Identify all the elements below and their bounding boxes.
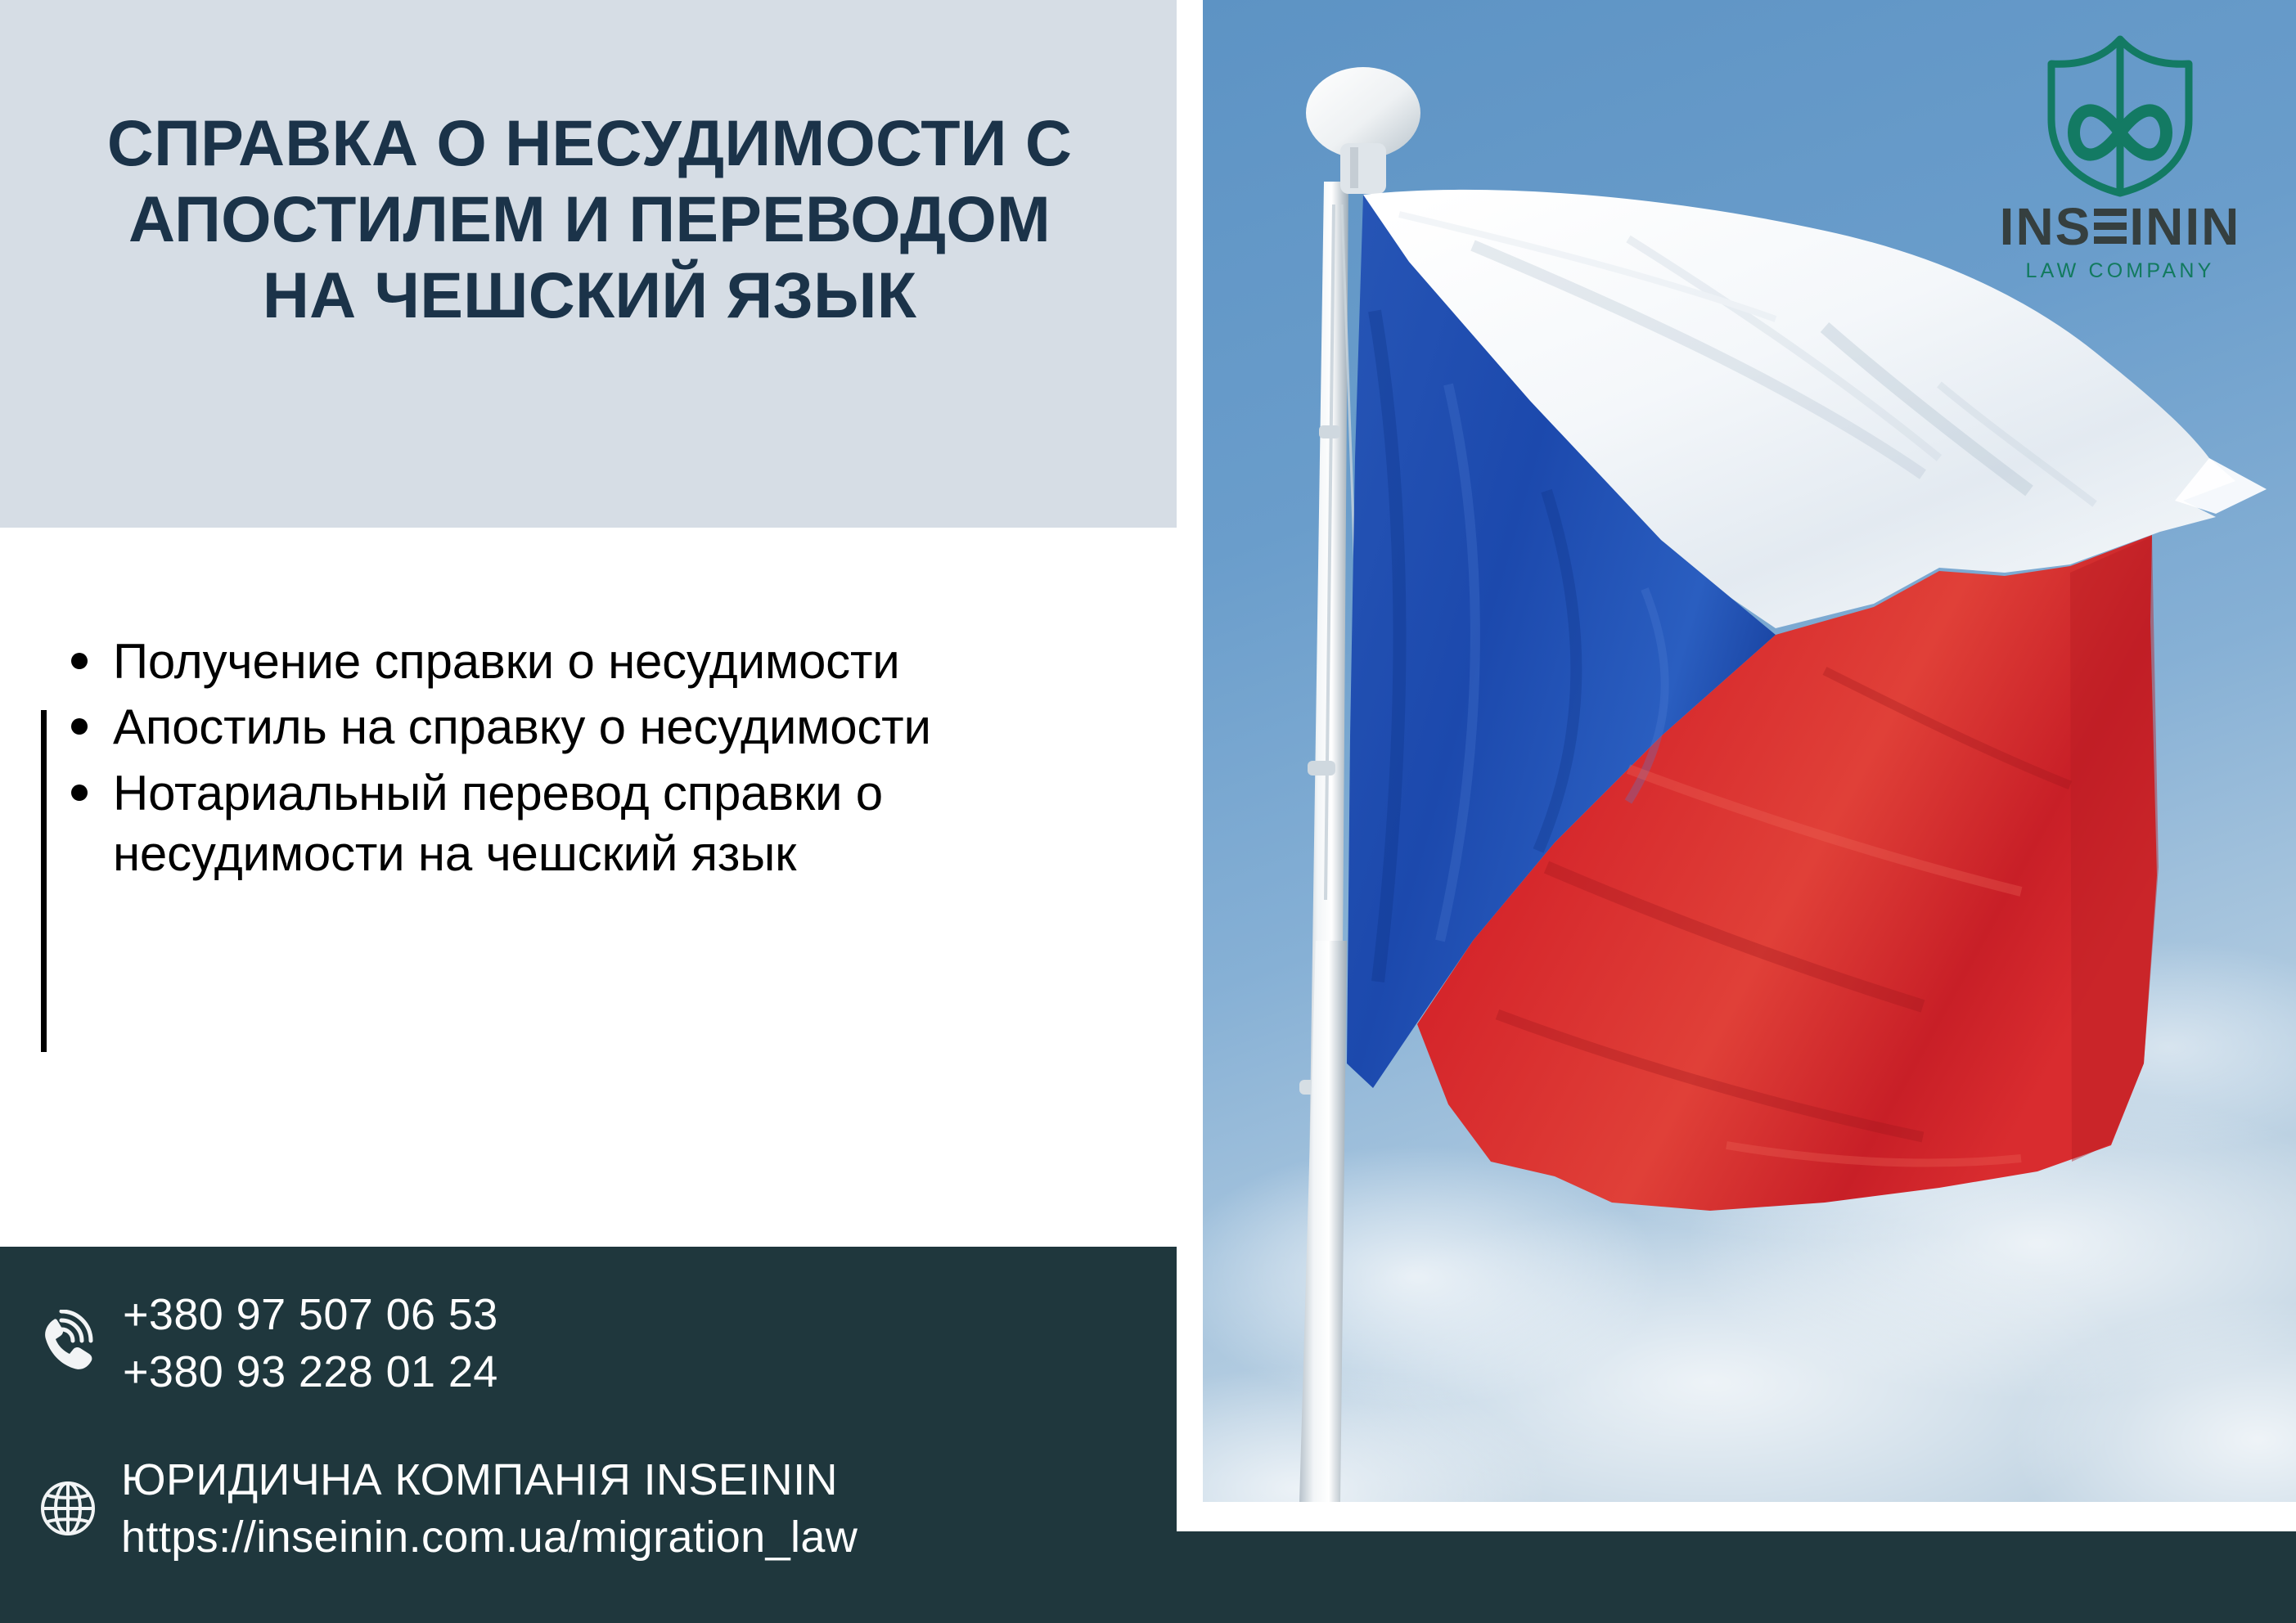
web-contact-row[interactable]: ЮРИДИЧНА КОМПАНІЯ INSEININ https://insei… [33, 1451, 858, 1566]
phone-number-1[interactable]: +380 97 507 06 53 [123, 1286, 498, 1343]
contact-footer: +380 97 507 06 53 +380 93 228 01 24 [0, 1247, 1177, 1623]
list-item: Апостиль на справку о несудимости [113, 697, 988, 758]
website-url[interactable]: https://inseinin.com.ua/migration_law [121, 1508, 858, 1566]
phone-numbers: +380 97 507 06 53 +380 93 228 01 24 [123, 1286, 498, 1400]
phone-number-2[interactable]: +380 93 228 01 24 [123, 1343, 498, 1400]
company-name: ЮРИДИЧНА КОМПАНІЯ INSEININ [121, 1451, 858, 1508]
phone-contact-row[interactable]: +380 97 507 06 53 +380 93 228 01 24 [34, 1286, 498, 1400]
list-item: Получение справки о несудимости [113, 632, 988, 692]
web-details: ЮРИДИЧНА КОМПАНІЯ INSEININ https://insei… [121, 1451, 858, 1566]
czech-flag-photo [1203, 0, 2296, 1502]
phone-ringing-icon [34, 1308, 105, 1378]
accent-vertical-rule [41, 710, 47, 1052]
list-item: Нотариальный перевод справки о несудимос… [113, 763, 988, 885]
page-title: СПРАВКА О НЕСУДИМОСТИ С АПОСТИЛЕМ И ПЕРЕ… [39, 105, 1140, 334]
globe-icon [33, 1473, 103, 1544]
services-list: Получение справки о несудимости Апостиль… [54, 632, 988, 890]
poster-canvas: СПРАВКА О НЕСУДИМОСТИ С АПОСТИЛЕМ И ПЕРЕ… [0, 0, 2296, 1623]
